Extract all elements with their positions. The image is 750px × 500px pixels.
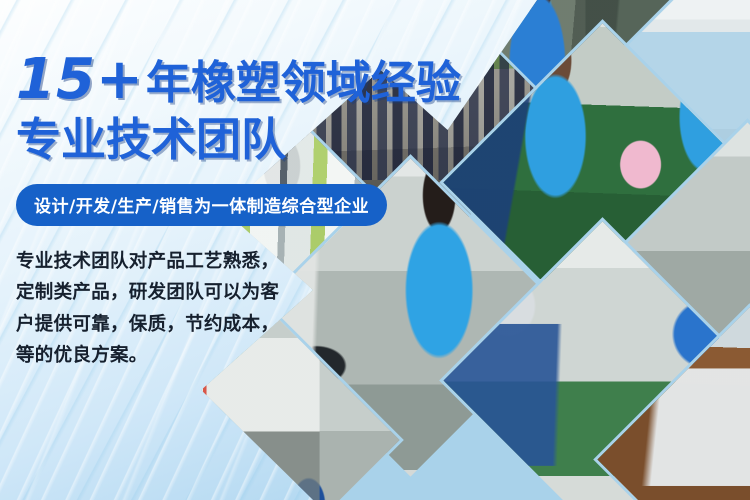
years-number: 15 <box>16 52 96 108</box>
body-paragraph: 专业技术团队对产品工艺熟悉，定制类产品，研发团队可以为客户提供可靠，保质，节约成… <box>16 246 284 372</box>
status-badge: 设计/开发/生产/销售为一体制造综合型企业 <box>16 184 387 226</box>
headline-line-2: 专业技术团队 <box>16 117 470 162</box>
text-panel: 15 + 年橡塑领域经验 专业技术团队 设计/开发/生产/销售为一体制造综合型企… <box>0 0 470 500</box>
plus-sign-icon: + <box>96 52 144 108</box>
headline-line-1-suffix: 年橡塑领域经验 <box>146 60 461 105</box>
headline-line-1: 15 + 年橡塑领域经验 <box>16 52 470 108</box>
headline: 15 + 年橡塑领域经验 专业技术团队 <box>16 52 470 162</box>
promo-banner: 15 + 年橡塑领域经验 专业技术团队 设计/开发/生产/销售为一体制造综合型企… <box>0 0 750 500</box>
